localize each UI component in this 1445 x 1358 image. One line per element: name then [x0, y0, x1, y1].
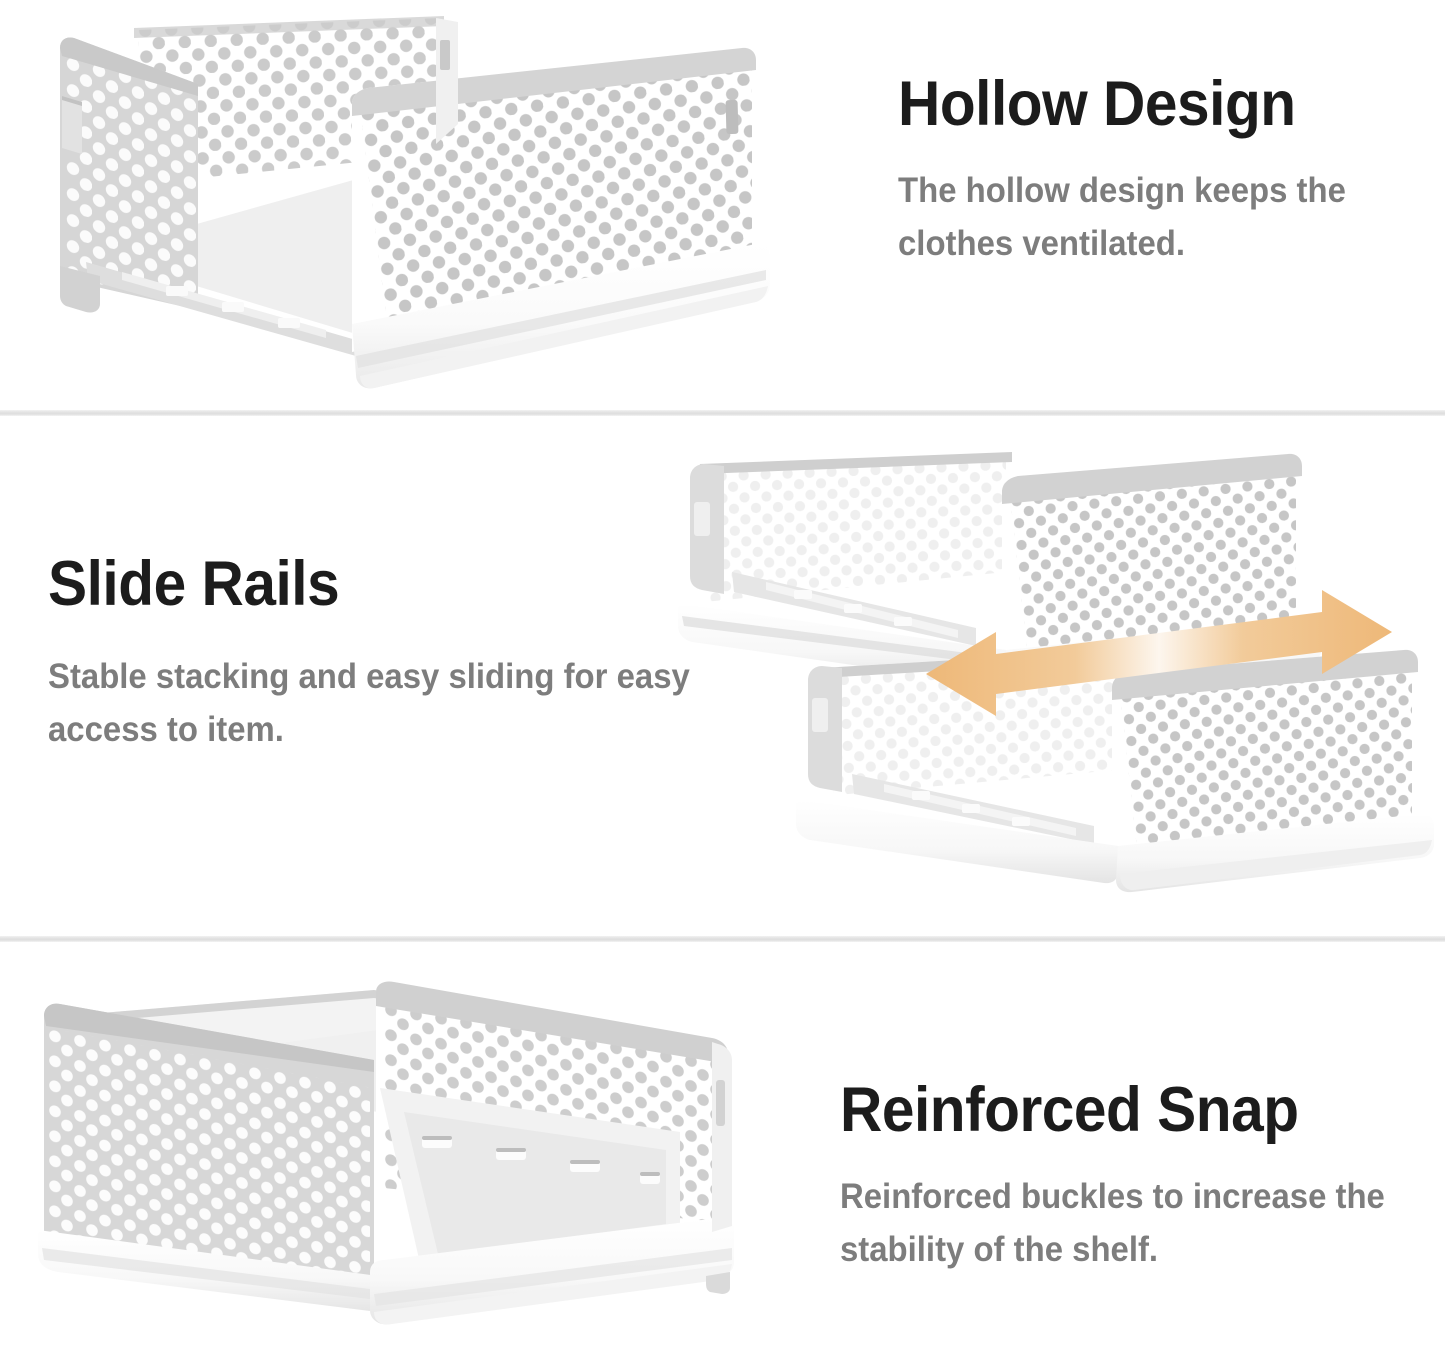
basket-corner-post: [712, 1042, 732, 1232]
lower-base-basket: [796, 646, 1445, 892]
product-image-hollow-design: [26, 4, 786, 404]
product-image-slide-rails: [676, 444, 1445, 924]
panel-headline: Hollow Design: [898, 72, 1382, 138]
product-image-reinforced-snap: [18, 972, 808, 1354]
basket-corner-post: [436, 18, 458, 144]
text-block-reinforced-snap: Reinforced Snap Reinforced buckles to in…: [840, 1078, 1440, 1276]
text-block-hollow-design: Hollow Design The hollow design keeps th…: [898, 72, 1418, 270]
snap-buckle: [496, 1148, 526, 1160]
snap-buckle: [570, 1160, 600, 1172]
snap-buckle: [422, 1136, 452, 1148]
panel-body-text: Reinforced buckles to increase the stabi…: [840, 1170, 1442, 1276]
panel-hollow-design: Hollow Design The hollow design keeps th…: [0, 0, 1445, 410]
panel-body-text: The hollow design keeps the clothes vent…: [898, 164, 1424, 270]
panel-body-text: Stable stacking and easy sliding for eas…: [48, 650, 706, 756]
panel-reinforced-snap: Reinforced Snap Reinforced buckles to in…: [0, 942, 1445, 1358]
panel-headline: Reinforced Snap: [840, 1078, 1398, 1144]
snap-buckle: [640, 1172, 660, 1184]
infographic-page: Hollow Design The hollow design keeps th…: [0, 0, 1445, 1358]
text-block-slide-rails: Slide Rails Stable stacking and easy sli…: [48, 552, 708, 756]
panel-slide-rails: Slide Rails Stable stacking and easy sli…: [0, 416, 1445, 936]
panel-headline: Slide Rails: [48, 552, 662, 618]
